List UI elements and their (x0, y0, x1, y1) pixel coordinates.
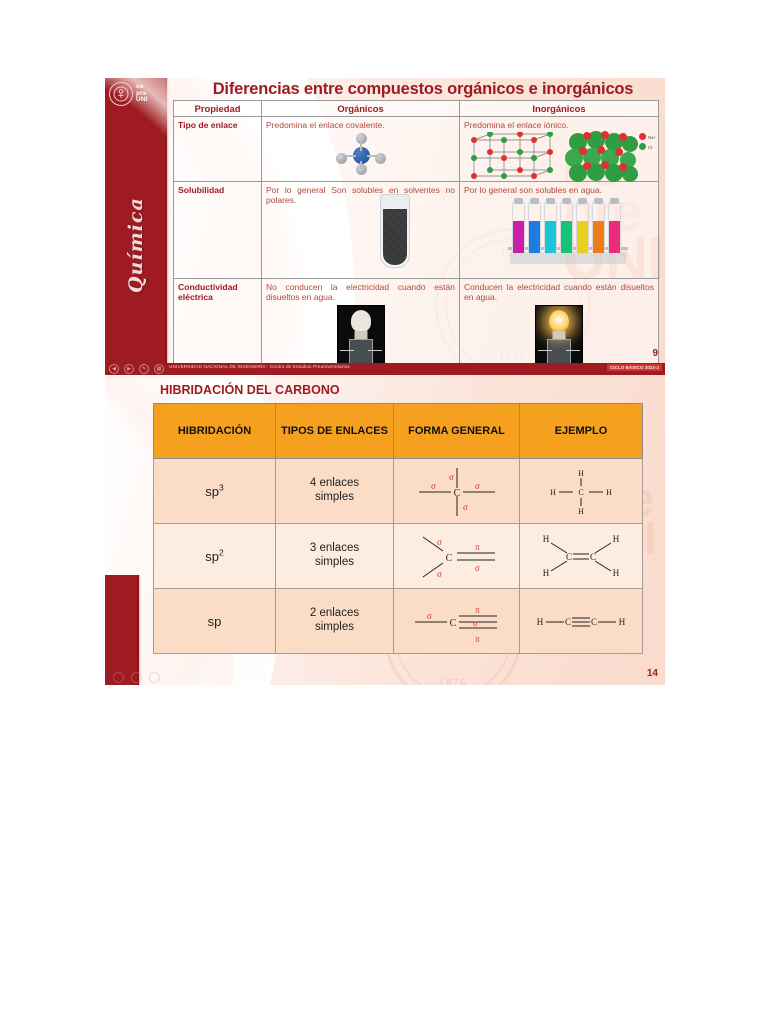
sidebar-subject-label: Química (107, 170, 165, 320)
cell-bond-type-sp: 2 enlaces simples (276, 589, 394, 654)
hybridization-label: sp (208, 614, 222, 629)
bond-type-line-2: simples (277, 556, 392, 570)
seal-bottom-text: 1876 (388, 678, 518, 685)
cell-inorganic-conductividad: Conducen la electricidad cuando están di… (460, 279, 659, 374)
hybridization-label: sp (205, 549, 219, 564)
svg-text:H: H (578, 469, 584, 478)
logo-line-uni: UNI (136, 97, 148, 104)
bulb-glass-off (351, 310, 371, 332)
legend-label-cl: Cl- (648, 145, 654, 150)
slide2-page-number: 14 (647, 668, 658, 679)
svg-text:σ: σ (437, 569, 442, 579)
table-row: Solubilidad Por lo general Son solubles … (174, 182, 659, 279)
property-label: Tipo de enlace (178, 120, 257, 130)
svg-text:C: C (591, 617, 597, 627)
inorganic-text: Por lo general son solubles en agua. (464, 185, 654, 195)
cell-property-conductividad: Conductividad eléctrica (174, 279, 262, 374)
bond-type-line-1: 4 enlaces (277, 477, 392, 491)
property-label: Solubilidad (178, 185, 257, 195)
svg-text:σ: σ (475, 481, 480, 491)
svg-text:π: π (475, 542, 480, 552)
table-row: sp2 3 enlaces simples C (154, 524, 643, 589)
bulb-glass-on (549, 310, 569, 332)
cell-bond-type-sp3: 4 enlaces simples (276, 459, 394, 524)
svg-text:H: H (619, 617, 626, 627)
sp-sigma-pi-bond-diagram: C σ πσπ (395, 593, 518, 649)
uni-seal-icon (109, 82, 133, 106)
nav-next-icon[interactable]: ▶ (124, 364, 134, 374)
inorganic-text: Predomina el enlace iónico. (464, 120, 654, 130)
bond-type-line-1: 2 enlaces (277, 607, 392, 621)
svg-text:H: H (578, 507, 584, 516)
nacl-lattice-figure (464, 132, 560, 182)
cell-property-tipo-enlace: Tipo de enlace (174, 117, 262, 182)
cepre-uni-logo: ce pre UNI (109, 82, 148, 106)
table-header-row: HIBRIDACIÓN TIPOS DE ENLACES FORMA GENER… (154, 404, 643, 459)
table-row: sp 2 enlaces simples C (154, 589, 643, 654)
svg-text:H: H (543, 534, 550, 544)
slide-diferencias-compuestos: ce pre UNI UNI 1876 ce pre UNI (105, 78, 665, 375)
svg-text:H: H (543, 568, 550, 578)
ethene-structural-formula: CC HH HH (521, 528, 641, 584)
methane-structural-formula: C HH HH (521, 463, 641, 519)
footer-cycle-badge: CICLO BÁSICO 2022-2 (607, 364, 662, 371)
cell-hybridization-sp2: sp2 (154, 524, 276, 589)
cell-example-sp: HC CH (520, 589, 643, 654)
slide-nav-controls[interactable]: ◀ ▶ ✎ ▦ (109, 364, 164, 374)
legend-item-na: Na+ (639, 133, 656, 143)
nav-pen-icon[interactable]: ✎ (139, 364, 149, 374)
svg-text:C: C (445, 553, 452, 564)
nav-menu-icon[interactable]: ▦ (154, 364, 164, 374)
bulb-jar (349, 339, 373, 365)
nav-prev-icon[interactable] (113, 672, 124, 683)
table-row: sp3 4 enlaces simples C (154, 459, 643, 524)
footer-institution-text: UNIVERSIDAD NACIONAL DE INGENIERÍA - Cen… (169, 364, 350, 369)
svg-text:C: C (590, 552, 596, 562)
cell-example-sp3: C HH HH (520, 459, 643, 524)
comparison-table: Propiedad Orgánicos Inorgánicos Tipo de … (173, 100, 659, 374)
svg-text:H: H (606, 488, 612, 497)
cell-organic-tipo-enlace: Predomina el enlace covalente. (262, 117, 460, 182)
column-header-inorganicos: Inorgánicos (460, 101, 659, 117)
bond-type-line-2: simples (277, 621, 392, 635)
legend-dot-cl (639, 143, 646, 150)
unlit-bulb-figure (337, 305, 385, 369)
slide-hibridacion-carbono: re NI 1876 HIBRIDACIÓN DEL CARBONO HIBRI… (105, 375, 665, 685)
table-row: Conductividad eléctrica No conducen la e… (174, 279, 659, 374)
logo-text: ce pre UNI (136, 84, 148, 105)
svg-text:C: C (453, 488, 460, 499)
organic-text: Por lo general Son solubles en solventes… (266, 185, 455, 206)
column-header-forma-general: FORMA GENERAL (394, 404, 520, 459)
lit-bulb-figure (535, 305, 583, 369)
cell-organic-solubilidad: Por lo general Son solubles en solventes… (262, 182, 460, 279)
cell-general-form-sp3: C σσ σσ (394, 459, 520, 524)
svg-text:π: π (475, 605, 480, 615)
svg-text:σ: σ (427, 611, 432, 621)
svg-text:H: H (537, 617, 544, 627)
organic-text: No conducen la electricidad cuando están… (266, 282, 455, 303)
sp3-sigma-bond-diagram: C σσ σσ (395, 463, 518, 519)
hybridization-superscript: 2 (219, 548, 224, 558)
sp2-sigma-pi-bond-diagram: C σσ πσ (395, 528, 518, 584)
ethyne-structural-formula: HC CH (521, 593, 641, 649)
hybridization-table: HIBRIDACIÓN TIPOS DE ENLACES FORMA GENER… (153, 403, 643, 654)
colored-test-tube-rack-figure (508, 198, 628, 266)
legend-item-cl: Cl- (639, 143, 656, 153)
column-header-hibridacion: HIBRIDACIÓN (154, 404, 276, 459)
cell-hybridization-sp3: sp3 (154, 459, 276, 524)
svg-text:σ: σ (431, 481, 436, 491)
methane-molecule-figure (334, 133, 388, 175)
cell-hybridization-sp: sp (154, 589, 276, 654)
nav-menu-icon[interactable] (149, 672, 160, 683)
table-row: Tipo de enlace Predomina el enlace coval… (174, 117, 659, 182)
svg-text:H: H (613, 534, 620, 544)
svg-text:H: H (613, 568, 620, 578)
svg-text:σ: σ (475, 563, 480, 573)
svg-text:C: C (578, 488, 583, 497)
cell-property-solubilidad: Solubilidad (174, 182, 262, 279)
nav-prev-icon[interactable]: ◀ (109, 364, 119, 374)
svg-text:C: C (565, 617, 571, 627)
cell-inorganic-solubilidad: Por lo general son solubles en agua. (460, 182, 659, 279)
cell-organic-conductividad: No conducen la electricidad cuando están… (262, 279, 460, 374)
slide1-title: Diferencias entre compuestos orgánicos e… (187, 80, 659, 101)
svg-text:σ: σ (437, 537, 442, 547)
svg-text:H: H (550, 488, 556, 497)
slide1-footer: UNIVERSIDAD NACIONAL DE INGENIERÍA - Cen… (105, 363, 665, 375)
svg-text:C: C (566, 552, 572, 562)
slide2-maroon-accent (105, 575, 139, 685)
svg-text:π: π (475, 634, 480, 644)
bulb-jar (547, 339, 571, 365)
test-tube-figure (380, 194, 410, 268)
cell-bond-type-sp2: 3 enlaces simples (276, 524, 394, 589)
lattice-legend: Na+ Cl- (639, 133, 656, 153)
hybridization-label: sp (205, 484, 219, 499)
svg-text:σ: σ (463, 502, 468, 512)
cell-inorganic-tipo-enlace: Predomina el enlace iónico. (460, 117, 659, 182)
slide2-nav-controls[interactable] (113, 672, 160, 683)
property-label: Conductividad eléctrica (178, 282, 257, 302)
page-root: ce pre UNI UNI 1876 ce pre UNI (0, 0, 768, 1024)
test-tube-contents (383, 209, 407, 265)
nav-next-icon[interactable] (131, 672, 142, 683)
inorganic-text: Conducen la electricidad cuando están di… (464, 282, 654, 303)
bond-type-line-2: simples (277, 491, 392, 505)
svg-text:σ: σ (449, 472, 454, 482)
cell-general-form-sp2: C σσ πσ (394, 524, 520, 589)
bond-type-line-1: 3 enlaces (277, 542, 392, 556)
table-header-row: Propiedad Orgánicos Inorgánicos (174, 101, 659, 117)
hybridization-superscript: 3 (219, 483, 224, 493)
column-header-propiedad: Propiedad (174, 101, 262, 117)
legend-label-na: Na+ (648, 135, 656, 140)
cell-general-form-sp: C σ πσπ (394, 589, 520, 654)
slide2-title: HIBRIDACIÓN DEL CARBONO (160, 383, 340, 397)
cell-example-sp2: CC HH HH (520, 524, 643, 589)
organic-text: Predomina el enlace covalente. (266, 120, 455, 130)
column-header-tipos-enlaces: TIPOS DE ENLACES (276, 404, 394, 459)
column-header-ejemplo: EJEMPLO (520, 404, 643, 459)
slide1-page-number: 9 (652, 348, 658, 359)
svg-text:σ: σ (473, 618, 478, 628)
nacl-spacefill-figure (564, 130, 642, 182)
svg-text:C: C (449, 618, 456, 629)
column-header-organicos: Orgánicos (262, 101, 460, 117)
legend-dot-na (639, 133, 646, 140)
